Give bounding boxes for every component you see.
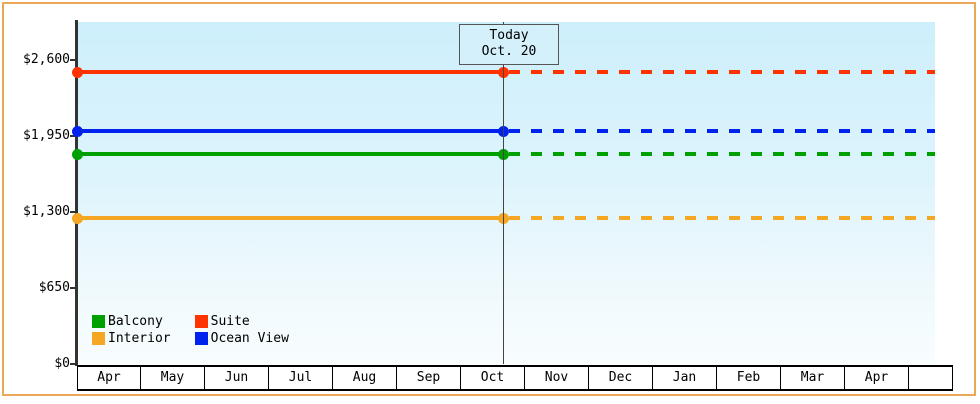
- y-axis-tick-label: $0: [54, 357, 70, 370]
- series-line-forecast-ocean-view: [509, 129, 935, 133]
- today-date: Oct. 20: [470, 44, 548, 60]
- x-axis-month-cell[interactable]: May: [141, 367, 205, 389]
- y-axis-tick-mark: [70, 59, 77, 61]
- series-line-solid-interior: [77, 216, 503, 220]
- x-axis-month-cell[interactable]: Jan: [653, 367, 717, 389]
- today-marker-box: Today Oct. 20: [459, 24, 559, 65]
- y-axis-tick-label: $1,300: [23, 205, 70, 218]
- x-axis-month-cell[interactable]: Aug: [333, 367, 397, 389]
- series-line-solid-ocean-view: [77, 129, 503, 133]
- series-line-solid-suite: [77, 70, 503, 74]
- series-point-start-suite: [72, 67, 83, 78]
- legend-entry[interactable]: Ocean View: [195, 331, 289, 346]
- legend-entry[interactable]: Balcony: [92, 314, 171, 329]
- today-label: Today: [470, 28, 548, 44]
- legend-label: Interior: [108, 331, 171, 346]
- legend-swatch-icon: [92, 315, 105, 328]
- series-line-forecast-balcony: [509, 152, 935, 156]
- y-axis-tick-label: $1,950: [23, 129, 70, 142]
- legend-label: Balcony: [108, 314, 163, 329]
- legend-swatch-icon: [92, 332, 105, 345]
- today-marker-line: [503, 22, 504, 364]
- x-axis-month-cell[interactable]: Nov: [525, 367, 589, 389]
- x-axis-month-strip: AprMayJunJulAugSepOctNovDecJanFebMarApr: [77, 365, 953, 391]
- x-axis-month-cell[interactable]: Jul: [269, 367, 333, 389]
- x-axis-month-cell[interactable]: Apr: [845, 367, 909, 389]
- x-axis-month-cell[interactable]: Sep: [397, 367, 461, 389]
- y-axis-tick-mark: [70, 363, 77, 365]
- x-axis-month-cell[interactable]: Jun: [205, 367, 269, 389]
- legend-entry[interactable]: Suite: [195, 314, 289, 329]
- legend-label: Suite: [211, 314, 250, 329]
- y-axis-ticks: $0$650$1,300$1,950$2,600: [4, 4, 70, 404]
- price-history-chart: $0$650$1,300$1,950$2,600 Today Oct. 20 B…: [2, 2, 976, 396]
- series-point-start-interior: [72, 213, 83, 224]
- legend-label: Ocean View: [211, 331, 289, 346]
- x-axis-month-cell[interactable]: Dec: [589, 367, 653, 389]
- y-axis-tick-label: $650: [39, 281, 70, 294]
- legend-entry[interactable]: Interior: [92, 331, 171, 346]
- series-line-forecast-interior: [509, 216, 935, 220]
- series-line-solid-balcony: [77, 152, 503, 156]
- x-axis-month-cell[interactable]: Apr: [77, 367, 141, 389]
- y-axis-tick-mark: [70, 287, 77, 289]
- x-axis-month-cell[interactable]: Mar: [781, 367, 845, 389]
- x-axis-month-cell[interactable]: Oct: [461, 367, 525, 389]
- legend-swatch-icon: [195, 332, 208, 345]
- series-line-forecast-suite: [509, 70, 935, 74]
- x-axis-month-cell-partial: [909, 367, 953, 389]
- series-point-start-balcony: [72, 149, 83, 160]
- x-axis-month-cell[interactable]: Feb: [717, 367, 781, 389]
- chart-legend: BalconySuiteInteriorOcean View: [92, 314, 289, 346]
- series-point-start-ocean-view: [72, 126, 83, 137]
- legend-swatch-icon: [195, 315, 208, 328]
- y-axis-tick-label: $2,600: [23, 53, 70, 66]
